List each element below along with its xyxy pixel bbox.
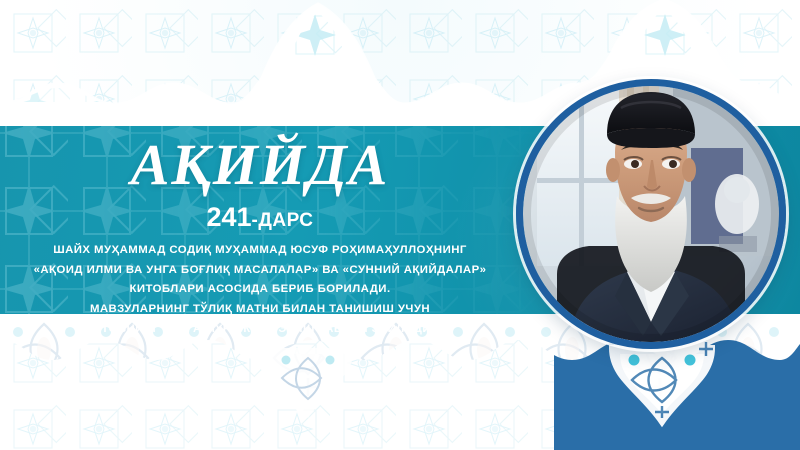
description-line: КИТОБНИНГ ЎЗИГА МУРОЖААТ ЭТИШ ТАВСИЯ ЭТИ… (85, 321, 434, 339)
lesson-number: 241 (206, 202, 251, 232)
page-title: АҚИЙДА (131, 136, 390, 194)
poster-canvas: АҚИЙДА 241-ДАРС ШАЙХ МУҲАММАД СОДИҚ МУҲА… (0, 0, 800, 450)
description-line: ШАЙХ МУҲАММАД СОДИҚ МУҲАММАД ЮСУФ РОҲИМА… (53, 242, 467, 260)
poster-text-column: АҚИЙДА 241-ДАРС ШАЙХ МУҲАММАД СОДИҚ МУҲА… (0, 118, 520, 336)
description-block: ШАЙХ МУҲАММАД СОДИҚ МУҲАММАД ЮСУФ РОҲИМА… (0, 242, 520, 338)
description-line: КИТОБЛАРИ АСОСИДА БЕРИБ БОРИЛАДИ. (129, 281, 390, 299)
lesson-label: 241-ДАРС (206, 202, 313, 233)
portrait-frame: Портрет — оқ соқолли, қора дўппили кекса… (516, 79, 786, 349)
description-line: «АҚОИД ИЛМИ ВА УНГА БОҒЛИҚ МАСАЛАЛАР» ВА… (34, 262, 487, 280)
lesson-suffix: -ДАРС (252, 210, 314, 231)
description-line: МАВЗУЛАРНИНГ ТЎЛИҚ МАТНИ БИЛАН ТАНИШИШ У… (90, 301, 430, 319)
portrait-ring-border (516, 79, 786, 349)
